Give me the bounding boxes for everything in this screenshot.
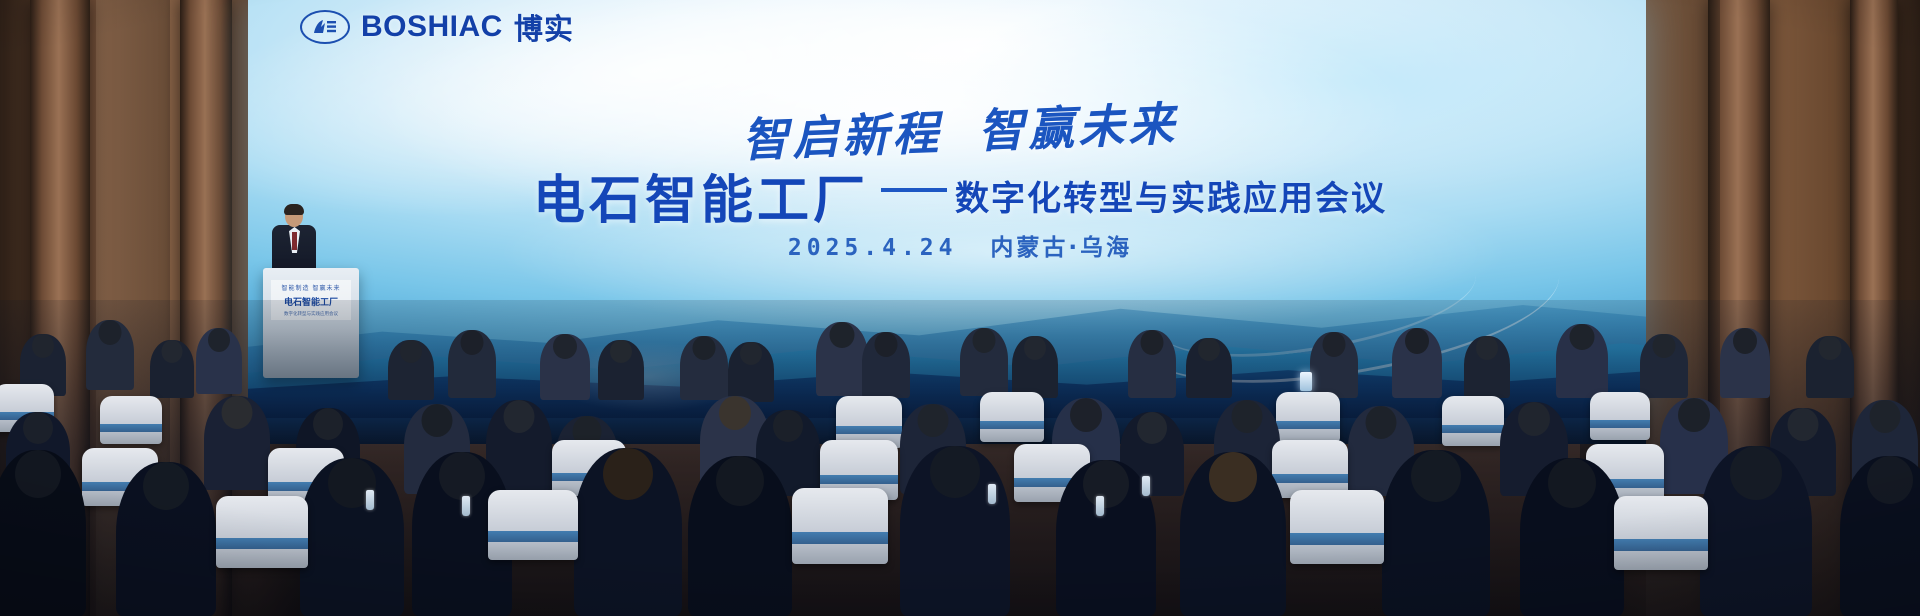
- person-head: [1366, 406, 1397, 439]
- audience-person: [862, 332, 910, 398]
- audience-person: [204, 396, 270, 490]
- brand-name-cn: 博实: [514, 6, 574, 48]
- person-head: [875, 332, 898, 357]
- person-head: [32, 334, 54, 358]
- audience-person: [0, 450, 86, 616]
- screen-location: 内蒙古·乌海: [990, 235, 1132, 261]
- chair-band: [980, 421, 1044, 429]
- person-head: [1788, 408, 1819, 441]
- person-head: [1476, 336, 1498, 360]
- chair-band: [1276, 421, 1340, 429]
- audience-person: [1556, 324, 1608, 398]
- screen-title-main: 电石智能工厂: [533, 158, 869, 233]
- boshiac-ellipse-logo-icon: [300, 10, 350, 44]
- audience-person: [540, 334, 590, 400]
- brand-name-en: BOSHIAC: [361, 10, 503, 44]
- person-head: [1653, 334, 1676, 358]
- audience-chair: [980, 392, 1044, 442]
- water-bottle: [462, 496, 470, 516]
- person-head: [1819, 336, 1842, 360]
- person-head: [504, 400, 535, 433]
- water-bottle: [366, 490, 374, 510]
- audience-chair: [1590, 392, 1650, 440]
- person-head: [1867, 456, 1913, 504]
- person-head: [830, 322, 855, 348]
- person-head: [1024, 336, 1046, 360]
- person-head: [1141, 330, 1164, 355]
- audience-person: [86, 320, 134, 390]
- audience-person: [116, 462, 216, 616]
- audience-person: [688, 456, 792, 616]
- attendee-phone-screen: [1300, 372, 1312, 391]
- person-head: [400, 340, 422, 363]
- person-head: [162, 340, 183, 363]
- person-head: [740, 342, 762, 365]
- person-head: [973, 328, 996, 353]
- chair-band: [820, 475, 898, 485]
- audience-chair: [792, 488, 888, 564]
- audience-person: [1720, 328, 1770, 398]
- audience-person: [574, 448, 682, 616]
- person-head: [610, 340, 632, 363]
- audience-person: [1180, 452, 1286, 616]
- person-head: [1411, 450, 1461, 502]
- person-head: [603, 448, 653, 500]
- person-head: [1570, 324, 1595, 350]
- person-head: [1518, 402, 1550, 436]
- screen-title-sub: 数字化转型与实践应用会议: [955, 171, 1387, 220]
- person-head: [716, 456, 764, 506]
- audience-chair: [100, 396, 162, 444]
- water-bottle: [1142, 476, 1150, 496]
- person-head: [1730, 446, 1782, 500]
- chair-band: [1290, 533, 1384, 545]
- person-head: [773, 410, 803, 442]
- person-head: [693, 336, 716, 360]
- person-head: [1870, 400, 1901, 433]
- person-head: [1323, 332, 1346, 357]
- podium-sign-top: 智能制造 智赢未来: [282, 283, 341, 292]
- audience-person: [1464, 336, 1510, 398]
- person-head: [461, 330, 484, 355]
- person-head: [930, 446, 980, 498]
- audience-area: [0, 300, 1920, 616]
- audience-chair: [1614, 496, 1708, 570]
- audience-person: [1520, 458, 1624, 616]
- audience-chair: [488, 490, 578, 560]
- audience-person: [196, 328, 242, 394]
- person-head: [313, 408, 343, 440]
- title-dash-rule: [881, 188, 947, 192]
- person-head: [1070, 398, 1102, 432]
- chair-band: [216, 538, 308, 550]
- speaker-hair: [284, 204, 304, 215]
- audience-person: [1382, 450, 1490, 616]
- audience-person: [448, 330, 496, 398]
- slogan-part-b: 智赢未来: [977, 97, 1179, 159]
- speaker-tie: [292, 232, 297, 250]
- chair-band: [488, 531, 578, 542]
- chair-band: [792, 532, 888, 544]
- water-bottle: [988, 484, 996, 504]
- screen-date: 2025.4.24: [788, 235, 958, 261]
- person-head: [1733, 328, 1757, 354]
- audience-person: [1806, 336, 1854, 398]
- audience-chair: [1442, 396, 1504, 446]
- person-head: [553, 334, 577, 359]
- audience-person: [960, 328, 1008, 396]
- person-head: [1405, 328, 1429, 354]
- audience-person: [680, 336, 728, 400]
- audience-person: [1128, 330, 1176, 398]
- person-head: [1548, 458, 1596, 508]
- chair-band: [1272, 474, 1348, 483]
- chair-band: [1442, 425, 1504, 433]
- person-head: [1678, 398, 1710, 432]
- audience-person: [1840, 456, 1920, 616]
- person-head: [222, 396, 253, 429]
- person-head: [143, 462, 189, 510]
- person-head: [1083, 460, 1129, 508]
- audience-person: [388, 340, 434, 400]
- person-head: [1232, 400, 1263, 433]
- audience-person: [816, 322, 868, 396]
- audience-person: [728, 342, 774, 402]
- audience-chair: [216, 496, 308, 568]
- audience-person: [1056, 460, 1156, 616]
- person-head: [1209, 452, 1257, 502]
- person-head: [1137, 412, 1167, 444]
- audience-chair: [1290, 490, 1384, 564]
- person-head: [422, 404, 453, 437]
- chair-band: [1590, 420, 1650, 428]
- audience-person: [1186, 338, 1232, 398]
- conference-photo: BOSHIAC 博实 智启新程智赢未来 电石智能工厂 数字化转型与实践应用会议 …: [0, 0, 1920, 616]
- chair-band: [100, 424, 162, 432]
- audience-person: [1392, 328, 1442, 398]
- audience-person: [1700, 446, 1812, 616]
- audience-chair: [1276, 392, 1340, 442]
- person-head: [99, 320, 122, 345]
- brand-lockup: BOSHIAC 博实: [300, 6, 574, 48]
- person-head: [719, 396, 751, 430]
- person-head: [918, 404, 949, 437]
- person-head: [23, 412, 53, 444]
- person-head: [1198, 338, 1220, 361]
- chair-band: [1614, 539, 1708, 551]
- speaker-figure: [272, 206, 316, 276]
- person-head: [15, 450, 61, 498]
- person-head: [439, 452, 485, 500]
- person-head: [208, 328, 230, 352]
- audience-person: [1012, 336, 1058, 398]
- audience-person: [150, 340, 194, 398]
- audience-person: [1310, 332, 1358, 398]
- audience-person: [300, 458, 404, 616]
- audience-person: [900, 446, 1010, 616]
- audience-person: [598, 340, 644, 400]
- chair-band: [836, 426, 902, 434]
- audience-person: [1640, 334, 1688, 398]
- water-bottle: [1096, 496, 1104, 516]
